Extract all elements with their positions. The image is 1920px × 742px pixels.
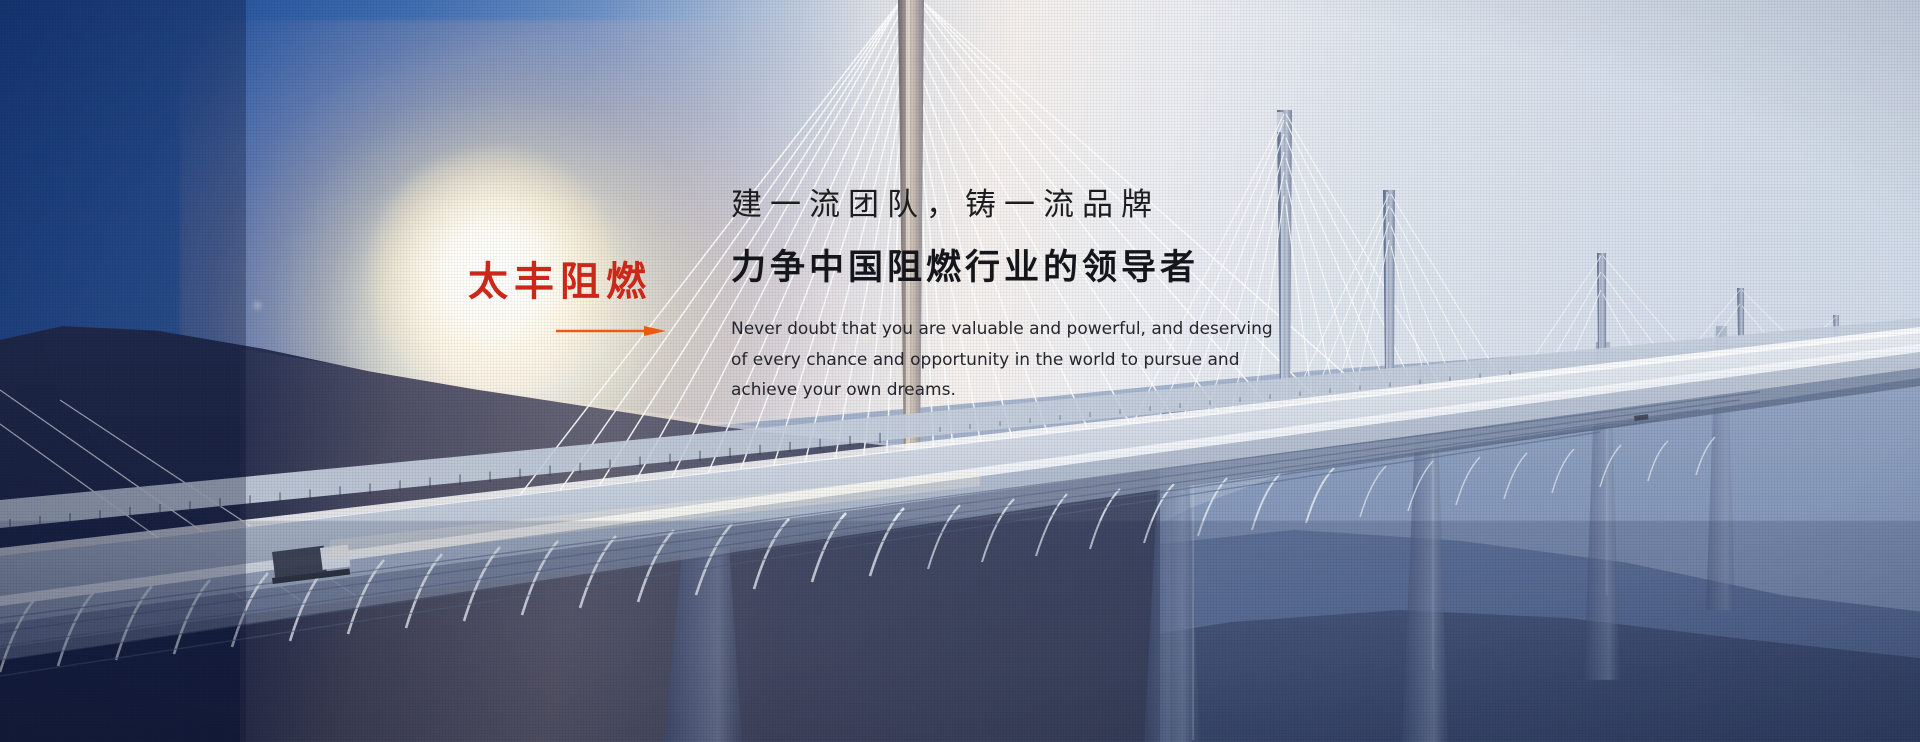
arrow-right-icon [556,324,666,338]
brand-logo-text: 太丰阻燃 [468,262,668,302]
hero-banner: 太丰阻燃 建一流团队，铸一流品牌 力争中国阻燃行业的领导者 Never doub… [0,0,1920,742]
description-line-2: of every chance and opportunity in the w… [731,345,1296,376]
main-heading: 力争中国阻燃行业的领导者 [731,249,1351,288]
description-line-3: achieve your own dreams. [731,375,1296,406]
banner-content: 太丰阻燃 建一流团队，铸一流品牌 力争中国阻燃行业的领导者 Never doub… [0,0,1920,742]
sub-heading: 建一流团队，铸一流品牌 [731,188,1351,222]
copy-block: 建一流团队，铸一流品牌 力争中国阻燃行业的领导者 Never doubt tha… [731,188,1351,406]
description-line-1: Never doubt that you are valuable and po… [731,314,1296,345]
brand-logo[interactable]: 太丰阻燃 [468,262,668,302]
description-text: Never doubt that you are valuable and po… [731,314,1296,407]
